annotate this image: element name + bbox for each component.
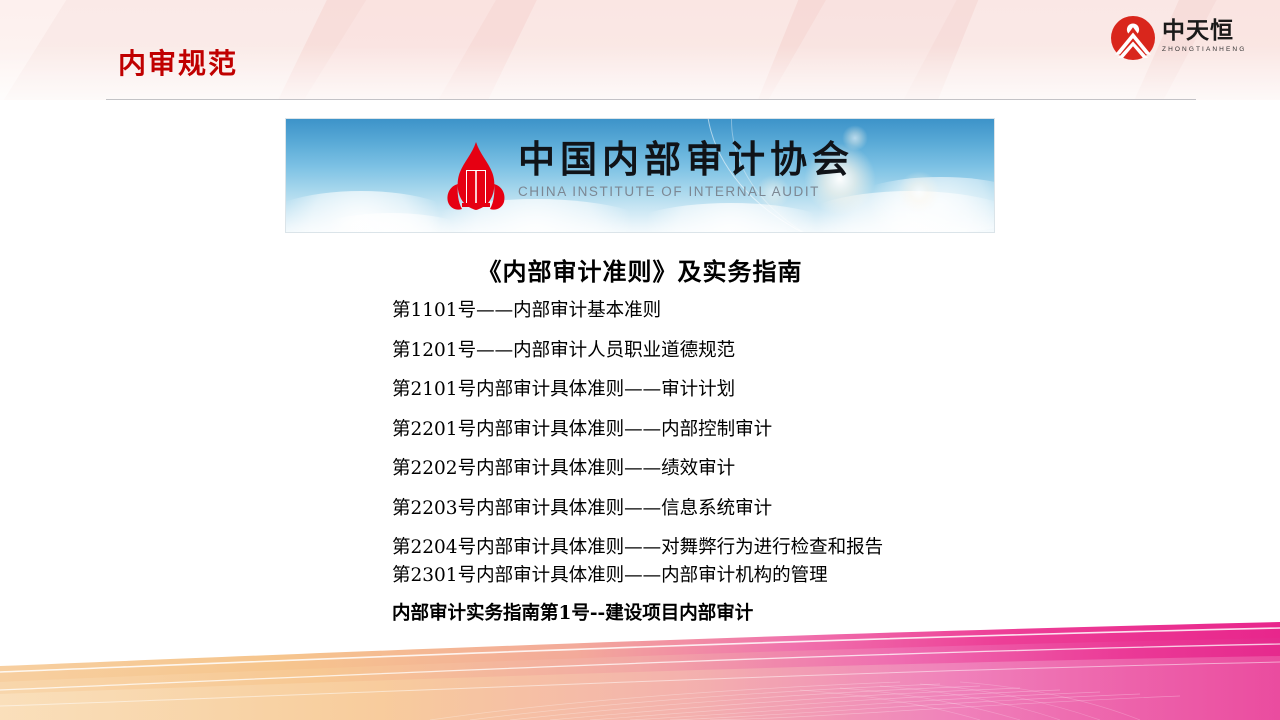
list-footnote: 内部审计实务指南第1号--建设项目内部审计	[392, 605, 1092, 624]
list-item: 第2202号内部审计具体准则——绩效审计	[392, 460, 1092, 479]
list-item: 第2101号内部审计具体准则——审计计划	[392, 381, 1092, 400]
company-logo: 中天恒 ZHONGTIANHENG	[1110, 10, 1270, 66]
list-item: 第1101号——内部审计基本准则	[392, 302, 1092, 321]
bottom-decoration-wave	[0, 620, 1280, 720]
zhongtianheng-circle-mountain-icon	[1110, 15, 1156, 61]
china-institute-of-internal-audit-emblem-icon	[438, 140, 514, 216]
content-heading: 《内部审计准则》及实务指南	[0, 252, 1280, 287]
list-item: 第2301号内部审计具体准则——内部审计机构的管理	[392, 567, 1092, 586]
lens-flare	[898, 171, 940, 213]
list-item: 第2204号内部审计具体准则——对舞弊行为进行检查和报告	[392, 539, 1092, 558]
banner-text-block: 中国内部审计协会 CHINA INSTITUTE OF INTERNAL AUD…	[518, 141, 854, 199]
page-title: 内审规范	[118, 50, 238, 78]
list-item: 第1201号——内部审计人员职业道德规范	[392, 342, 1092, 361]
slide-canvas: 内审规范 中天恒 ZHONGTIANHENG	[0, 0, 1280, 720]
banner-org-name-cn: 中国内部审计协会	[518, 141, 854, 178]
list-item: 第2203号内部审计具体准则——信息系统审计	[392, 500, 1092, 519]
list-item: 第2201号内部审计具体准则——内部控制审计	[392, 421, 1092, 440]
standards-list: 第1101号——内部审计基本准则 第1201号——内部审计人员职业道德规范 第2…	[392, 302, 1092, 624]
company-name-cn: 中天恒	[1162, 20, 1246, 43]
company-name-en: ZHONGTIANHENG	[1162, 47, 1246, 54]
title-divider	[106, 99, 1196, 100]
ciia-banner-image: 中国内部审计协会 CHINA INSTITUTE OF INTERNAL AUD…	[286, 119, 994, 232]
banner-org-name-en: CHINA INSTITUTE OF INTERNAL AUDIT	[518, 185, 854, 199]
company-logo-text: 中天恒 ZHONGTIANHENG	[1162, 20, 1246, 56]
